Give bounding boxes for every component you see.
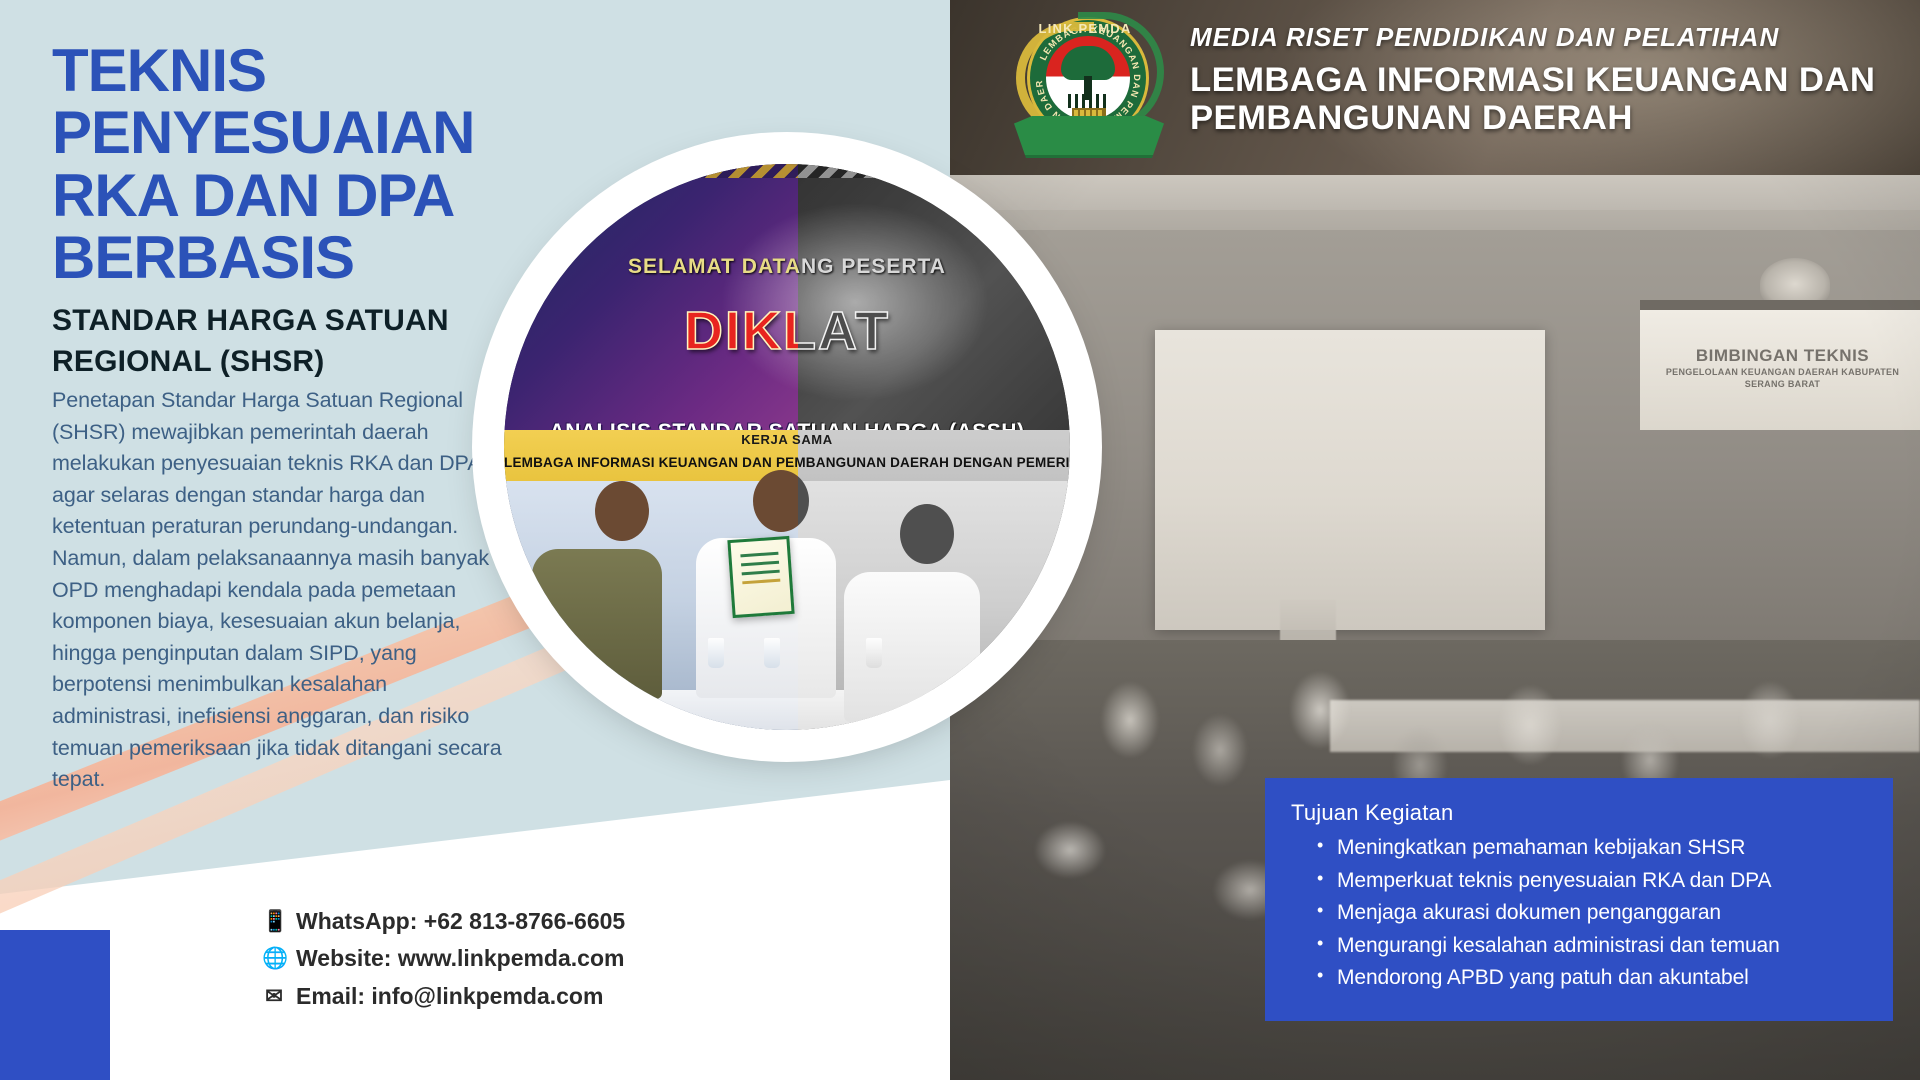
organization-logo: LEMBAGA KEUANGAN DAN PEMBANGUNAN DAERAH … <box>1010 8 1170 163</box>
tujuan-kegiatan-box: Tujuan Kegiatan Meningkatkan pemahaman k… <box>1265 778 1893 1021</box>
contact-block: 📱 WhatsApp: +62 813-8766-6605 🌐 Website:… <box>262 903 822 1015</box>
promotional-poster: TEKNIS PENYESUAIAN RKA DAN DPA BERBASIS … <box>0 0 1920 1080</box>
contact-whatsapp-text: WhatsApp: +62 813-8766-6605 <box>296 903 625 940</box>
blue-accent-square <box>0 930 110 1080</box>
org-kicker: MEDIA RISET PENDIDIKAN DAN PELATIHAN <box>1190 22 1890 53</box>
person-left-body <box>532 549 662 699</box>
list-item: Mengurangi kesalahan administrasi dan te… <box>1317 930 1867 963</box>
mobile-phone-icon: 📱 <box>262 911 286 932</box>
circular-event-photo: SELAMAT DATANG PESERTA DIKLAT ANALISIS S… <box>488 148 1086 746</box>
contact-row-email[interactable]: ✉ Email: info@linkpemda.com <box>262 978 822 1015</box>
contact-website-text: Website: www.linkpemda.com <box>296 940 624 977</box>
list-item: Menjaga akurasi dokumen penganggaran <box>1317 897 1867 930</box>
body-paragraph: Penetapan Standar Harga Satuan Regional … <box>52 385 504 796</box>
water-glass-2 <box>764 638 780 668</box>
list-item: Memperkuat teknis penyesuaian RKA dan DP… <box>1317 865 1867 898</box>
logo-ribbon-text: LINK PEMDA <box>1010 21 1160 36</box>
circular-photo-inner: SELAMAT DATANG PESERTA DIKLAT ANALISIS S… <box>504 164 1070 730</box>
tujuan-title: Tujuan Kegiatan <box>1291 800 1867 826</box>
water-glass-1 <box>708 638 724 668</box>
tujuan-list: Meningkatkan pemahaman kebijakan SHSR Me… <box>1291 832 1867 995</box>
page-subtitle: STANDAR HARGA SATUAN REGIONAL (SHSR) <box>52 300 572 383</box>
org-name-line1: LEMBAGA INFORMASI KEUANGAN DAN <box>1190 61 1904 99</box>
organization-titles: MEDIA RISET PENDIDIKAN DAN PELATIHAN LEM… <box>1190 22 1890 138</box>
contact-row-website[interactable]: 🌐 Website: www.linkpemda.com <box>262 940 822 977</box>
contact-email-text: Email: info@linkpemda.com <box>296 978 603 1015</box>
logo-ribbon <box>1014 116 1164 158</box>
certificate <box>728 535 795 617</box>
list-item: Mendorong APBD yang patuh dan akuntabel <box>1317 962 1867 995</box>
list-item: Meningkatkan pemahaman kebijakan SHSR <box>1317 832 1867 865</box>
envelope-icon: ✉ <box>262 986 286 1007</box>
tree-roots <box>1066 94 1110 108</box>
banyan-tree-icon <box>1061 46 1115 80</box>
grayscale-split-overlay <box>798 164 1070 730</box>
person-left-head <box>595 481 649 541</box>
org-name-line2: PEMBANGUNAN DAERAH <box>1190 99 1904 137</box>
contact-row-whatsapp[interactable]: 📱 WhatsApp: +62 813-8766-6605 <box>262 903 822 940</box>
globe-icon: 🌐 <box>262 948 286 969</box>
